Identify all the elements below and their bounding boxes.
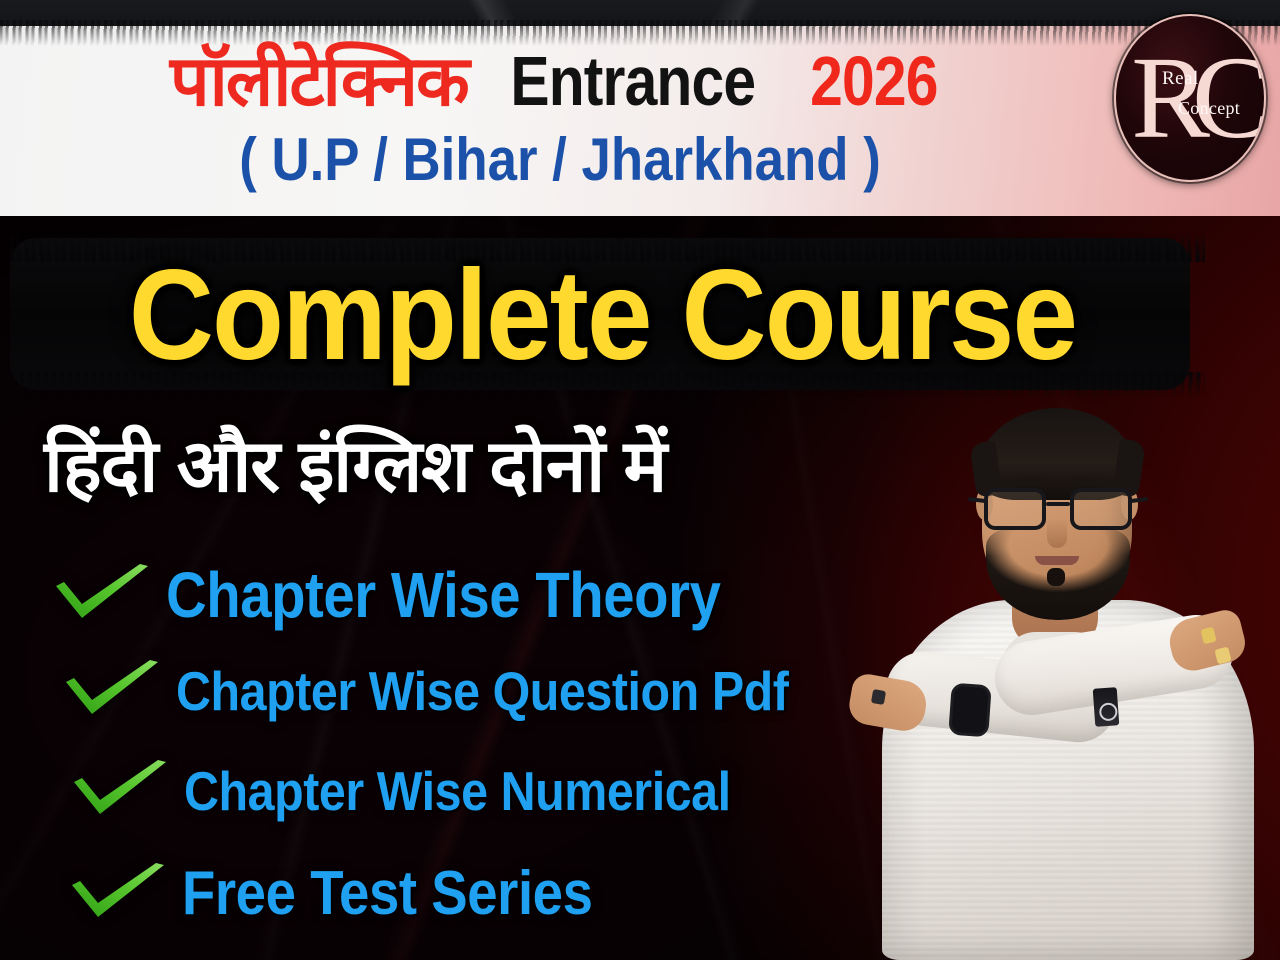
feature-item-4: Free Test Series [68,860,648,928]
logo-word-concept: Concept [1178,98,1240,119]
instructor-soul-patch [1047,568,1065,586]
headline-complete-course: Complete Course [48,248,1157,384]
check-icon [68,863,168,925]
glasses-bridge [1046,502,1070,506]
check-icon [70,760,170,822]
header-entrance-word: Entrance [511,37,756,125]
check-icon [52,564,152,626]
glasses-lens-right [1070,488,1132,530]
feature-item-1: Chapter Wise Theory [52,560,796,630]
feature-item-3: Chapter Wise Numerical [70,760,805,822]
feature-label: Free Test Series [182,860,592,928]
logo-word-real: Real [1162,68,1199,90]
smartwatch-icon [948,683,992,738]
check-icon [62,660,162,722]
subheadline-hindi: हिंदी और इंग्लिश दोनों में [44,424,666,510]
real-concept-logo: RC Real Concept [1114,14,1266,182]
course-promo-poster: पॉलीटेक्निक Entrance 2026 ( U.P / Bihar … [0,0,1280,960]
instructor-mouth [1035,556,1079,565]
glasses-temple-right [1130,497,1148,503]
header-year: 2026 [811,37,938,125]
feature-label: Chapter Wise Theory [166,560,720,630]
glasses-lens-left [984,488,1046,530]
header-hindi-word: पॉलीटेक्निक [170,42,468,120]
header-states-line: ( U.P / Bihar / Jharkhand ) [67,127,1053,193]
header-title-block: पॉलीटेक्निक Entrance 2026 ( U.P / Bihar … [0,36,1120,193]
feature-label: Chapter Wise Question Pdf [176,660,788,722]
feature-item-2: Chapter Wise Question Pdf [62,660,872,722]
header-title-line-1: पॉलीटेक्निक Entrance 2026 [0,36,1120,125]
feature-label: Chapter Wise Numerical [184,760,731,822]
instructor-photo [844,360,1280,960]
instructor-shirt-badge [1093,687,1120,727]
instructor-ring-3 [871,689,886,705]
